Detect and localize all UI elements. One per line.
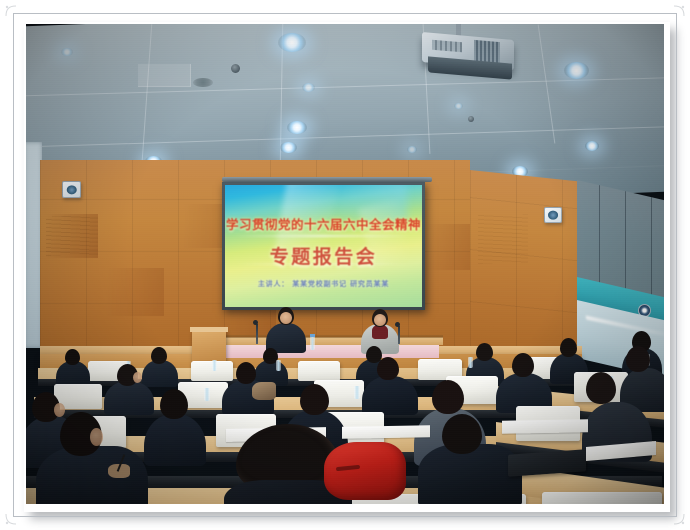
wood-grain-patch — [46, 216, 98, 256]
ceiling-vent-icon — [193, 78, 213, 87]
bottle-cap — [310, 334, 315, 337]
person-head — [377, 357, 399, 380]
corner-flourish-icon — [5, 5, 17, 17]
corner-flourish-icon — [673, 513, 685, 525]
ceiling-access-panel — [138, 64, 191, 87]
person-head — [442, 414, 482, 454]
wall-seam — [599, 185, 600, 283]
water-bottle — [354, 386, 360, 399]
water-bottle — [212, 360, 217, 371]
microphone-stem — [256, 324, 258, 344]
photograph: 学习贯彻党的十六届六中全会精神 专题报告会 主讲人： 某某党校副书记 研究员某某 — [26, 24, 664, 504]
wood-grain-patch — [478, 214, 528, 264]
speaker-right-face — [374, 314, 386, 326]
ceiling-downlight — [287, 121, 307, 134]
microphone-stem — [398, 326, 400, 344]
screen-streak — [233, 235, 413, 237]
person-head — [236, 362, 256, 384]
ceiling-downlight — [585, 141, 599, 151]
wall-speaker-left — [62, 181, 81, 198]
water-bottle — [468, 357, 473, 368]
lectern-top — [190, 327, 228, 332]
projection-screen-surface: 学习贯彻党的十六届六中全会精神 专题报告会 主讲人： 某某党校副书记 研究员某某 — [225, 185, 422, 307]
audience-person — [362, 357, 418, 412]
audience-person-foreground — [36, 412, 148, 504]
ceiling-downlight — [564, 62, 589, 79]
paper-sheet — [342, 425, 430, 439]
wall-seam — [625, 191, 626, 289]
person-torso — [362, 376, 418, 415]
audience-person — [56, 349, 90, 383]
person-head — [626, 346, 650, 372]
ceiling-downlight — [454, 103, 463, 109]
person-head — [586, 372, 616, 404]
wood-grain-patch — [426, 224, 470, 270]
ceiling-projector — [422, 30, 518, 74]
sprinkler-icon — [231, 64, 240, 73]
person-head — [560, 338, 577, 357]
speaker-cone-icon — [66, 185, 77, 194]
microphone-head-icon — [253, 320, 258, 325]
person-head — [160, 389, 188, 419]
chair-back[interactable] — [298, 361, 340, 381]
person-head — [65, 349, 80, 365]
speaker-left — [266, 307, 306, 351]
person-head — [151, 347, 167, 364]
person-face-profile — [90, 428, 103, 446]
water-bottle — [310, 336, 315, 350]
fur-collar — [252, 382, 276, 400]
wall-speaker-right — [544, 207, 562, 223]
speaker-table-edge — [205, 335, 443, 338]
audience-person — [222, 362, 274, 412]
person-head — [476, 343, 493, 361]
person-face-profile — [133, 372, 142, 383]
audience-person — [144, 389, 206, 461]
wood-grain-patch — [106, 268, 164, 316]
screen-subtitle: 主讲人： 某某党校副书记 研究员某某 — [225, 279, 422, 289]
person-head — [512, 353, 534, 377]
audience-person — [496, 353, 552, 410]
photo-frame: 学习贯彻党的十六届六中全会精神 专题报告会 主讲人： 某某党校副书记 研究员某某 — [0, 0, 690, 530]
wall-seam — [651, 197, 652, 295]
ceiling-downlight — [278, 33, 306, 52]
speaker-right — [361, 309, 399, 351]
ceiling-downlight — [302, 83, 315, 92]
speaker-cone-icon — [548, 211, 558, 220]
sprinkler-icon — [468, 116, 474, 122]
speaker-table-top — [205, 337, 443, 345]
water-bottle — [276, 360, 281, 371]
person-torso — [418, 444, 522, 504]
screen-title-line1: 学习贯彻党的十六届六中全会精神 — [225, 214, 422, 233]
chair-back[interactable] — [542, 492, 662, 504]
screen-title-line2: 专题报告会 — [225, 242, 422, 269]
person-head — [432, 380, 464, 414]
ceiling-downlight — [280, 142, 297, 153]
projection-screen[interactable]: 学习贯彻党的十六届六中全会精神 专题报告会 主讲人： 某某党校副书记 研究员某某 — [222, 182, 425, 310]
microphone-head-icon — [395, 322, 400, 327]
ceiling-downlight — [407, 146, 417, 153]
audience-person-foreground — [418, 414, 522, 498]
speaker-right-scarf — [372, 325, 388, 339]
black-notebook[interactable] — [508, 449, 586, 476]
person-torso — [36, 446, 148, 504]
speaker-table-cloth — [209, 344, 439, 358]
corner-flourish-icon — [5, 513, 17, 525]
person-head — [300, 384, 329, 415]
person-torso — [144, 414, 206, 466]
corner-flourish-icon — [673, 5, 685, 17]
wall-wood-front-right — [470, 170, 582, 366]
speaker-left-face — [280, 312, 292, 324]
ceiling-downlight — [61, 48, 73, 56]
